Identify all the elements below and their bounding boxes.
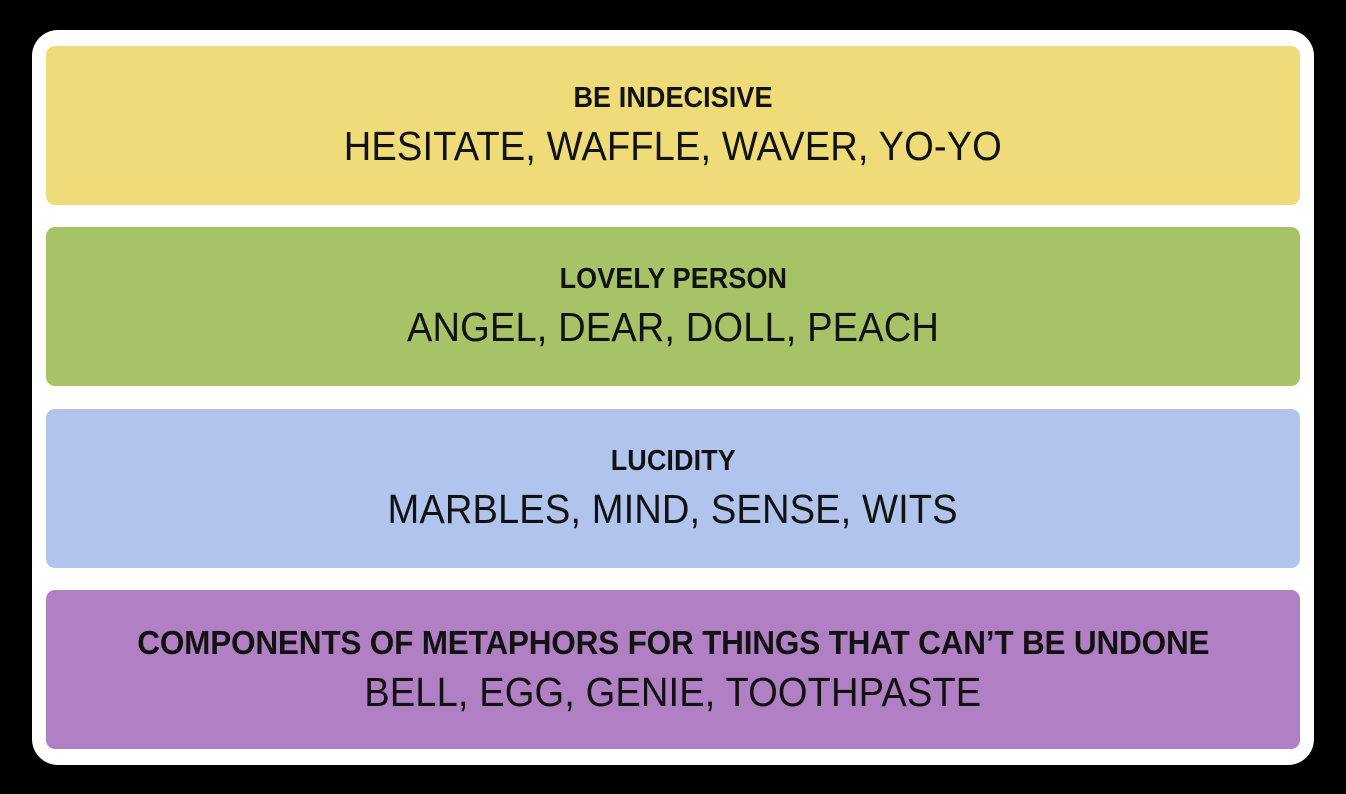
category-words: HESITATE, WAFFLE, WAVER, YO-YO [344, 126, 1002, 167]
category-title: LUCIDITY [610, 447, 735, 476]
category-title: BE INDECISIVE [573, 84, 772, 113]
puzzle-solution-card: BE INDECISIVE HESITATE, WAFFLE, WAVER, Y… [32, 30, 1314, 765]
category-row-purple[interactable]: COMPONENTS OF METAPHORS FOR THINGS THAT … [46, 590, 1300, 749]
category-title: LOVELY PERSON [559, 265, 787, 294]
category-row-yellow[interactable]: BE INDECISIVE HESITATE, WAFFLE, WAVER, Y… [46, 46, 1300, 205]
category-title: COMPONENTS OF METAPHORS FOR THINGS THAT … [137, 626, 1209, 659]
category-row-green[interactable]: LOVELY PERSON ANGEL, DEAR, DOLL, PEACH [46, 227, 1300, 386]
category-words: BELL, EGG, GENIE, TOOTHPASTE [364, 672, 981, 713]
category-words: ANGEL, DEAR, DOLL, PEACH [407, 307, 939, 348]
category-words: MARBLES, MIND, SENSE, WITS [388, 489, 958, 530]
category-row-blue[interactable]: LUCIDITY MARBLES, MIND, SENSE, WITS [46, 409, 1300, 568]
